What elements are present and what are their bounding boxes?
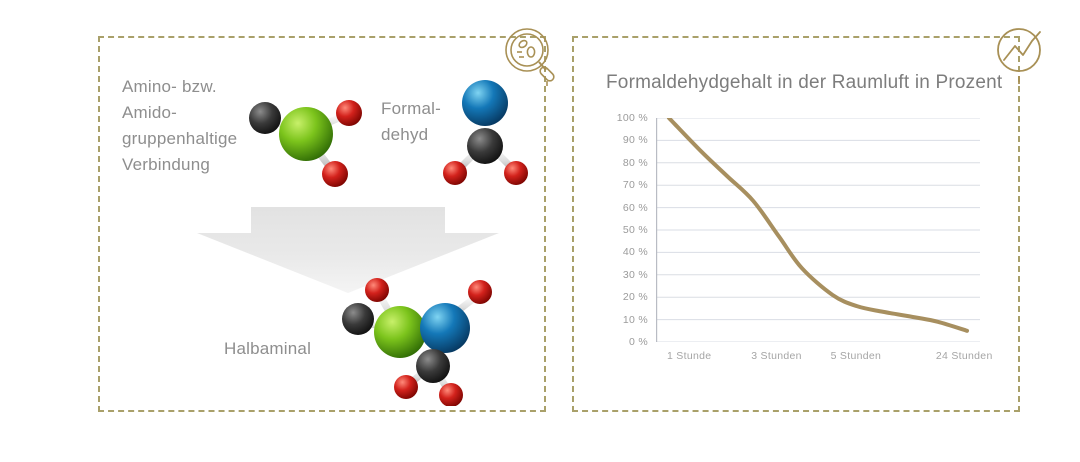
chart-svg (656, 118, 980, 342)
y-axis-tick: 20 % (606, 291, 648, 303)
x-axis-tick: 5 Stunden (831, 350, 882, 362)
amino-compound-molecule (238, 84, 368, 194)
y-axis-tick: 70 % (606, 179, 648, 191)
y-axis-tick: 60 % (606, 202, 648, 214)
y-axis-tick: 10 % (606, 314, 648, 326)
series-line (669, 118, 967, 331)
y-axis-tick: 30 % (606, 269, 648, 281)
x-axis-tick: 24 Stunden (936, 350, 993, 362)
x-axis-tick: 3 Stunden (751, 350, 802, 362)
chart-title: Formaldehydgehalt in der Raumluft in Pro… (606, 72, 1002, 94)
formaldehyde-molecule (432, 70, 538, 190)
y-axis-tick: 100 % (606, 112, 648, 124)
plot-area (656, 118, 980, 342)
y-axis-tick: 0 % (606, 336, 648, 348)
y-axis-tick: 80 % (606, 157, 648, 169)
formaldehyde-decay-chart: 100 %90 %80 %70 %60 %50 %40 %30 %20 %10 … (600, 118, 1000, 378)
y-axis-tick: 90 % (606, 134, 648, 146)
x-axis-tick: 1 Stunde (667, 350, 711, 362)
y-axis-tick: 40 % (606, 246, 648, 258)
y-axis-labels: 100 %90 %80 %70 %60 %50 %40 %30 %20 %10 … (600, 118, 648, 342)
halbaminal-molecule (327, 274, 509, 406)
y-axis-tick: 50 % (606, 224, 648, 236)
infographic-canvas: Amino- bzw. Amido- gruppenhaltige Verbin… (0, 0, 1080, 462)
x-axis-labels: 1 Stunde3 Stunden5 Stunden24 Stunden (600, 350, 1000, 370)
